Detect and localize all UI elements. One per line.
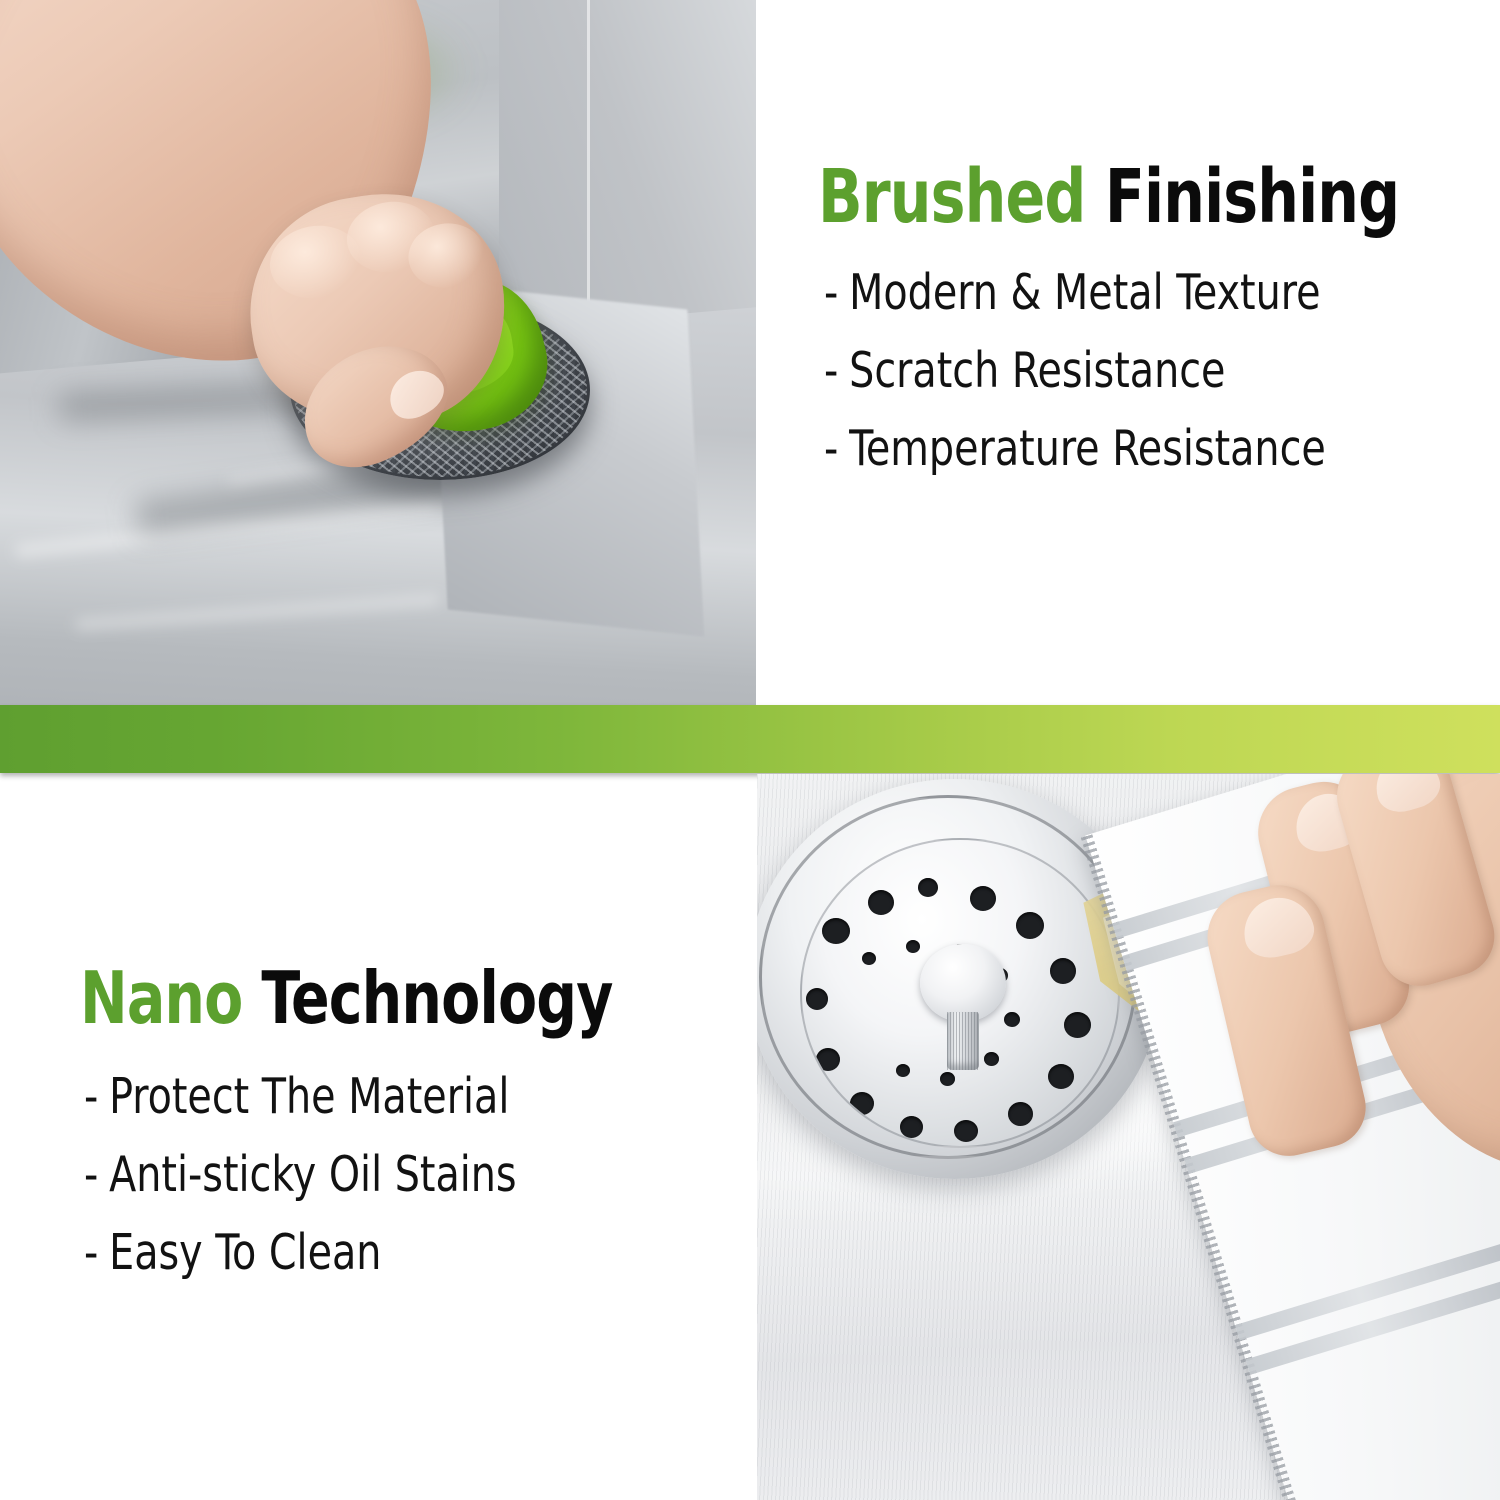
headline-accent-word: Brushed	[818, 154, 1085, 240]
towel-stripe	[1235, 1199, 1500, 1340]
strainer-hole	[940, 1072, 955, 1086]
list-item-label: Modern & Metal Texture	[849, 264, 1320, 321]
list-item-label: Easy To Clean	[109, 1224, 381, 1281]
strainer-hole	[850, 1092, 874, 1115]
strainer-hole	[970, 886, 996, 911]
strainer-center-knob	[920, 944, 1006, 1022]
list-item: -Easy To Clean	[84, 1220, 667, 1286]
strainer-hole	[1016, 912, 1044, 939]
bullet-dash: -	[824, 338, 838, 404]
bullet-dash: -	[84, 1220, 98, 1286]
strainer-hole	[1008, 1102, 1033, 1126]
list-item-label: Anti-sticky Oil Stains	[109, 1146, 516, 1203]
strainer-hole	[806, 988, 828, 1010]
list-item: -Anti-sticky Oil Stains	[84, 1142, 667, 1208]
photo-scrubbing-sink	[0, 0, 756, 706]
bullet-dash: -	[824, 416, 838, 482]
strainer-hole	[816, 1048, 840, 1071]
bullet-dash: -	[824, 260, 838, 326]
strainer-hole	[906, 940, 920, 953]
headline-accent-word: Nano	[80, 956, 242, 1040]
strainer-hole	[1048, 1064, 1074, 1089]
photo-wiping-drain	[757, 774, 1500, 1500]
strainer-hole	[900, 1116, 923, 1138]
strainer-hole	[862, 952, 876, 965]
strainer-hole	[1050, 958, 1076, 984]
strainer-hole	[822, 918, 850, 944]
strainer-hole	[954, 1120, 978, 1142]
brushed-finishing-text-block: Brushed Finishing -Modern & Metal Textur…	[808, 160, 1488, 494]
headline-main-word: Finishing	[1105, 154, 1399, 240]
strainer-hole	[918, 878, 938, 897]
nano-technology-headline: Nano Technology	[80, 962, 654, 1034]
green-divider-bar	[0, 705, 1500, 773]
bullet-dash: -	[84, 1064, 98, 1130]
strainer-knob-stem	[947, 1012, 979, 1070]
strainer-hole	[896, 1064, 910, 1077]
drain-rim	[759, 795, 1137, 1159]
nano-technology-text-block: Nano Technology -Protect The Material -A…	[72, 962, 732, 1298]
list-item-label: Temperature Resistance	[849, 420, 1326, 477]
strainer-hole	[1064, 1012, 1091, 1038]
list-item-label: Protect The Material	[109, 1068, 509, 1125]
list-item: -Protect The Material	[84, 1064, 667, 1130]
product-feature-collage: Brushed Finishing -Modern & Metal Textur…	[0, 0, 1500, 1500]
nano-technology-bullet-list: -Protect The Material -Anti-sticky Oil S…	[84, 1064, 732, 1286]
drain-strainer-basket	[800, 838, 1120, 1148]
list-item: -Modern & Metal Texture	[824, 260, 1422, 326]
list-item: -Scratch Resistance	[824, 338, 1422, 404]
strainer-hole	[1004, 1012, 1020, 1027]
strainer-hole	[868, 890, 894, 915]
bullet-dash: -	[84, 1142, 98, 1208]
headline-main-word: Technology	[261, 956, 612, 1040]
list-item: -Temperature Resistance	[824, 416, 1422, 482]
list-item-label: Scratch Resistance	[849, 342, 1225, 399]
strainer-hole	[984, 1052, 999, 1066]
brushed-finishing-headline: Brushed Finishing	[818, 160, 1408, 234]
brushed-finishing-bullet-list: -Modern & Metal Texture -Scratch Resista…	[824, 260, 1488, 482]
